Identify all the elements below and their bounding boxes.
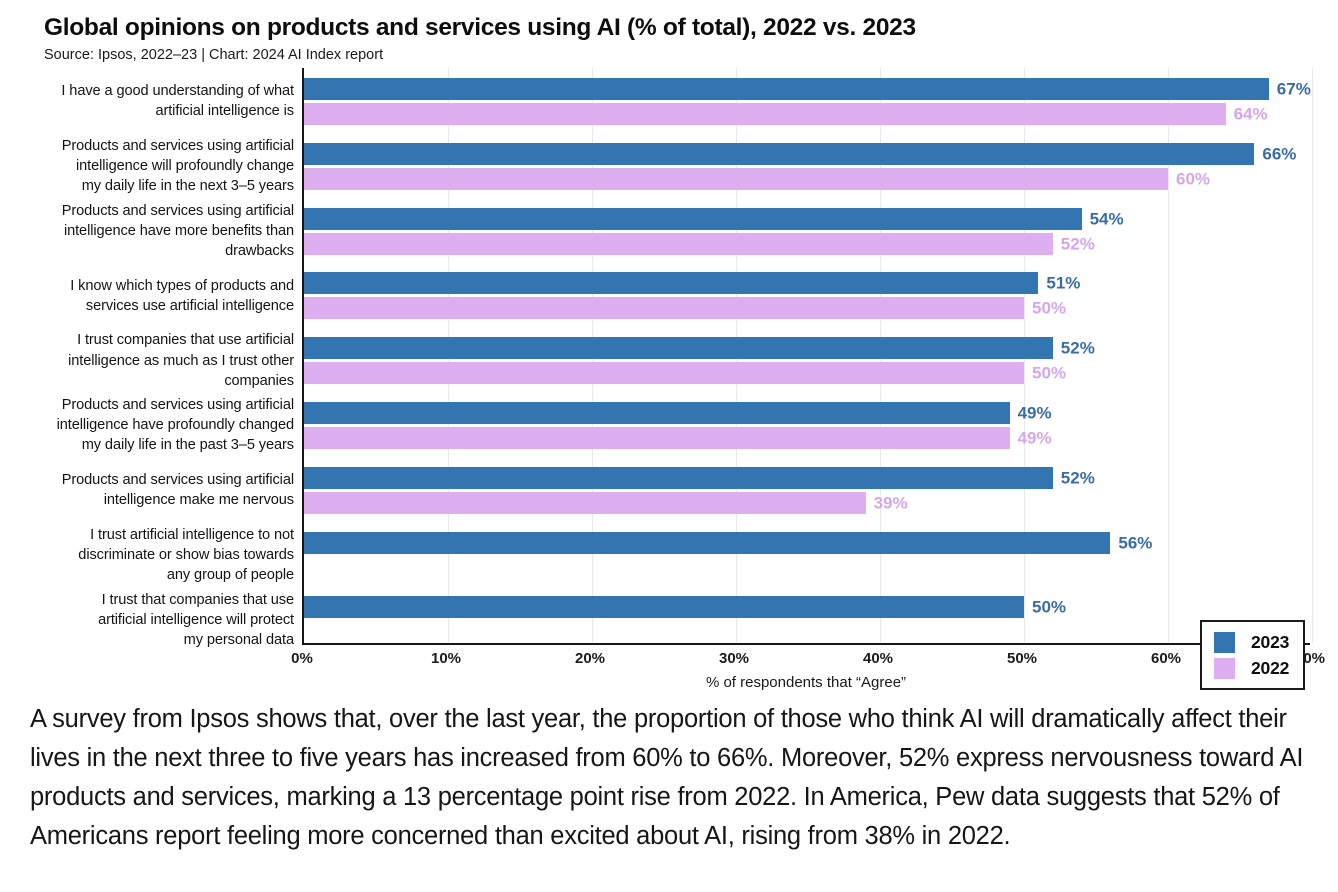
x-tick-label: 50% bbox=[1007, 650, 1037, 667]
bar-2023[interactable] bbox=[304, 143, 1254, 165]
bar-value-label-2022: 60% bbox=[1176, 170, 1210, 187]
bar-row: 52% bbox=[304, 467, 1310, 489]
category-label-line: my daily life in the past 3–5 years bbox=[26, 435, 294, 455]
bar-2023[interactable] bbox=[304, 337, 1053, 359]
x-tick-label: 20% bbox=[575, 650, 605, 667]
bar-value-label-2023: 66% bbox=[1262, 145, 1296, 162]
bar-value-label-2023: 50% bbox=[1032, 599, 1066, 616]
category-label-line: companies bbox=[26, 371, 294, 391]
bar-2023[interactable] bbox=[304, 467, 1053, 489]
bar-2023[interactable] bbox=[304, 532, 1110, 554]
bar-row: 50% bbox=[304, 596, 1310, 618]
bar-2022[interactable] bbox=[304, 362, 1024, 384]
category-label: I know which types of products andservic… bbox=[26, 276, 294, 316]
category-label-line: artificial intelligence is bbox=[26, 101, 294, 121]
bar-row: 51% bbox=[304, 272, 1310, 294]
category-label-line: I have a good understanding of what bbox=[26, 81, 294, 101]
bar-2022[interactable] bbox=[304, 427, 1010, 449]
infographic-page: Global opinions on products and services… bbox=[0, 0, 1338, 892]
legend-swatch-2023-icon bbox=[1214, 632, 1235, 653]
gridline bbox=[1312, 68, 1313, 643]
x-axis-title: % of respondents that “Agree” bbox=[302, 674, 1310, 691]
category-label-line: I know which types of products and bbox=[26, 276, 294, 296]
bar-row: 52% bbox=[304, 337, 1310, 359]
chart-legend: 2023 2022 bbox=[1200, 620, 1305, 690]
category-label: I trust artificial intelligence to notdi… bbox=[26, 525, 294, 585]
category-label: I have a good understanding of whatartif… bbox=[26, 81, 294, 121]
plot-area: 67%64%66%60%54%52%51%50%52%50%49%49%52%3… bbox=[302, 68, 1310, 645]
category-label: Products and services using artificialin… bbox=[26, 395, 294, 455]
bar-row: 60% bbox=[304, 168, 1310, 190]
category-label: Products and services using artificialin… bbox=[26, 470, 294, 510]
bar-row: 64% bbox=[304, 103, 1310, 125]
x-tick-label: 10% bbox=[431, 650, 461, 667]
bar-2023[interactable] bbox=[304, 272, 1038, 294]
category-label-line: intelligence will profoundly change bbox=[26, 156, 294, 176]
bar-value-label-2023: 54% bbox=[1090, 210, 1124, 227]
category-label-line: Products and services using artificial bbox=[26, 136, 294, 156]
bar-value-label-2022: 64% bbox=[1234, 106, 1268, 123]
bar-2023[interactable] bbox=[304, 208, 1082, 230]
bar-2022[interactable] bbox=[304, 168, 1168, 190]
category-label-line: I trust that companies that use bbox=[26, 590, 294, 610]
x-tick-label: 40% bbox=[863, 650, 893, 667]
category-label-line: Products and services using artificial bbox=[26, 395, 294, 415]
bar-row: 67% bbox=[304, 78, 1310, 100]
bar-2022[interactable] bbox=[304, 233, 1053, 255]
category-label: Products and services using artificialin… bbox=[26, 136, 294, 196]
category-label-line: any group of people bbox=[26, 565, 294, 585]
bar-row: 50% bbox=[304, 297, 1310, 319]
bar-value-label-2022: 50% bbox=[1032, 365, 1066, 382]
category-label-line: intelligence as much as I trust other bbox=[26, 351, 294, 371]
legend-label-2022: 2022 bbox=[1251, 658, 1289, 679]
category-label-line: intelligence have more benefits than bbox=[26, 221, 294, 241]
category-label-line: artificial intelligence will protect bbox=[26, 610, 294, 630]
bar-value-label-2023: 52% bbox=[1061, 469, 1095, 486]
category-label-line: discriminate or show bias towards bbox=[26, 545, 294, 565]
bar-value-label-2023: 67% bbox=[1277, 81, 1311, 98]
bar-2022[interactable] bbox=[304, 492, 866, 514]
bar-2022[interactable] bbox=[304, 297, 1024, 319]
bar-row: 56% bbox=[304, 532, 1310, 554]
legend-label-2023: 2023 bbox=[1251, 632, 1289, 653]
legend-swatch-2022-icon bbox=[1214, 658, 1235, 679]
bar-value-label-2022: 50% bbox=[1032, 300, 1066, 317]
bar-2023[interactable] bbox=[304, 596, 1024, 618]
bar-row: 54% bbox=[304, 208, 1310, 230]
bar-value-label-2023: 49% bbox=[1018, 405, 1052, 422]
chart-source-note: Source: Ipsos, 2022–23 | Chart: 2024 AI … bbox=[44, 47, 1314, 64]
body-paragraph: A survey from Ipsos shows that, over the… bbox=[30, 700, 1320, 856]
category-label-line: I trust artificial intelligence to not bbox=[26, 525, 294, 545]
category-label-line: intelligence have profoundly changed bbox=[26, 415, 294, 435]
category-label-line: intelligence make me nervous bbox=[26, 490, 294, 510]
category-label-line: Products and services using artificial bbox=[26, 201, 294, 221]
bar-row: 50% bbox=[304, 362, 1310, 384]
bar-row: 49% bbox=[304, 427, 1310, 449]
legend-item-2023[interactable]: 2023 bbox=[1214, 629, 1289, 655]
bar-row: 39% bbox=[304, 492, 1310, 514]
chart-title: Global opinions on products and services… bbox=[44, 14, 1314, 42]
category-label-line: I trust companies that use artificial bbox=[26, 330, 294, 350]
category-label: Products and services using artificialin… bbox=[26, 201, 294, 261]
x-tick-label: 60% bbox=[1151, 650, 1181, 667]
bar-value-label-2023: 52% bbox=[1061, 340, 1095, 357]
category-label-line: Products and services using artificial bbox=[26, 470, 294, 490]
legend-item-2022[interactable]: 2022 bbox=[1214, 655, 1289, 681]
chart-container: 67%64%66%60%54%52%51%50%52%50%49%49%52%3… bbox=[0, 68, 1338, 698]
category-label-line: my daily life in the next 3–5 years bbox=[26, 176, 294, 196]
bar-value-label-2023: 51% bbox=[1046, 275, 1080, 292]
x-tick-label: 30% bbox=[719, 650, 749, 667]
category-label-line: my personal data bbox=[26, 630, 294, 650]
bar-value-label-2022: 49% bbox=[1018, 430, 1052, 447]
bar-row: 66% bbox=[304, 143, 1310, 165]
bar-value-label-2022: 52% bbox=[1061, 235, 1095, 252]
bar-row: 49% bbox=[304, 402, 1310, 424]
bar-2022[interactable] bbox=[304, 103, 1226, 125]
bar-value-label-2023: 56% bbox=[1118, 534, 1152, 551]
chart-header: Global opinions on products and services… bbox=[44, 14, 1314, 65]
category-label: I trust that companies that useartificia… bbox=[26, 590, 294, 650]
category-label-line: services use artificial intelligence bbox=[26, 296, 294, 316]
bar-2023[interactable] bbox=[304, 78, 1269, 100]
bar-2023[interactable] bbox=[304, 402, 1010, 424]
bar-row: 52% bbox=[304, 233, 1310, 255]
category-label: I trust companies that use artificialint… bbox=[26, 330, 294, 390]
bar-value-label-2022: 39% bbox=[874, 494, 908, 511]
category-label-line: drawbacks bbox=[26, 241, 294, 261]
x-tick-label: 0% bbox=[291, 650, 313, 667]
